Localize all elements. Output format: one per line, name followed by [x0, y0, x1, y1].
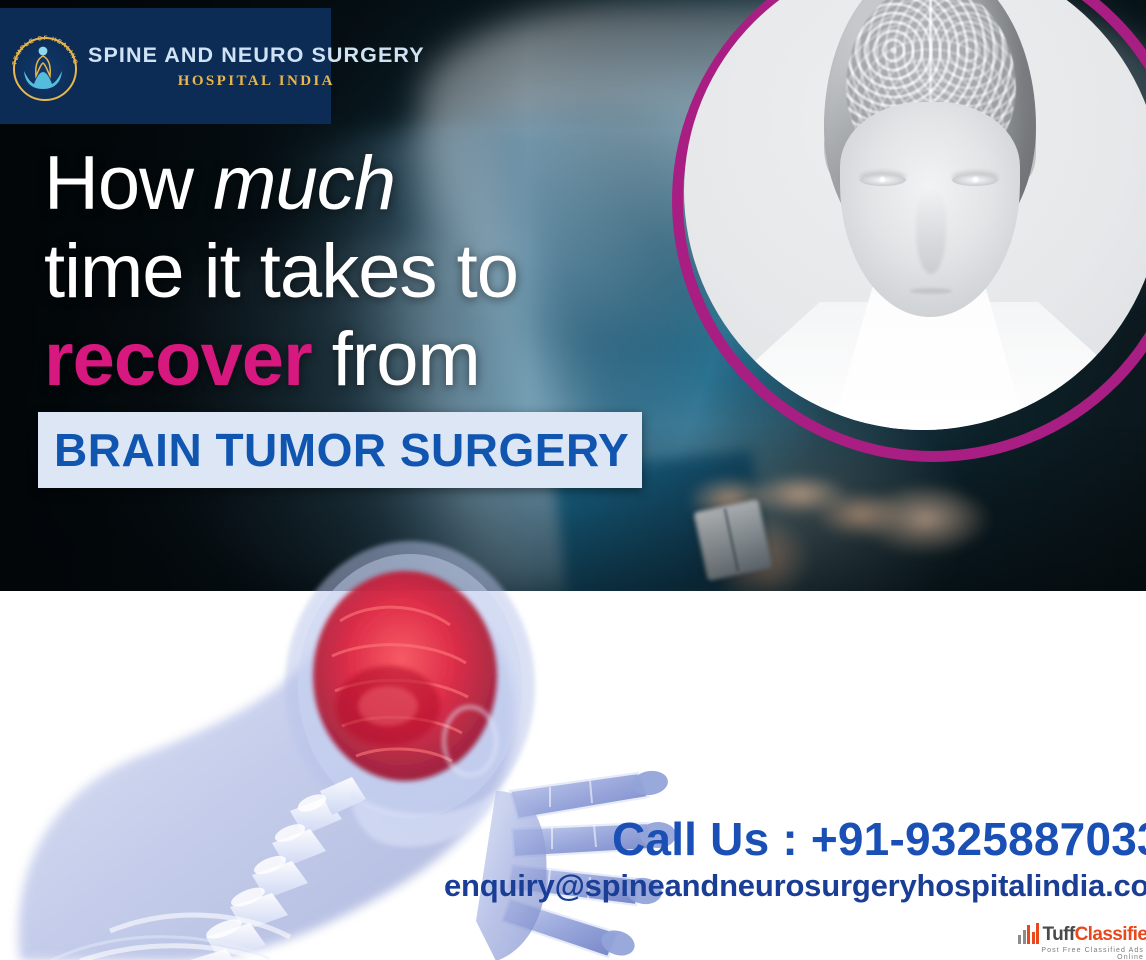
- email-contact[interactable]: enquiry@spineandneurosurgeryhospitalindi…: [444, 868, 1146, 904]
- watermark-name-part2: Classified: [1075, 924, 1146, 945]
- headline-line1-plain: How: [44, 141, 213, 226]
- phone-contact[interactable]: Call Us : +91-9325887033: [612, 812, 1146, 866]
- headline-line1-italic: much: [213, 141, 395, 226]
- logo-wordmark: SPINE AND NEURO SURGERY HOSPITAL INDIA: [88, 43, 425, 90]
- anatomical-head-illustration: [684, 0, 1146, 430]
- head-mouth: [910, 288, 952, 294]
- headline-line-3: recover from: [44, 316, 684, 404]
- head-pupil-right: [973, 177, 978, 182]
- logo-subtitle: HOSPITAL INDIA: [88, 73, 425, 90]
- bar-chart-icon: [1018, 923, 1041, 944]
- headline-line-1: How much: [44, 140, 684, 228]
- phone-number: +91-9325887033: [811, 813, 1146, 865]
- advertisement-poster: TEMPLE OF HEALING SPINE AND NEURO SURGER…: [0, 0, 1146, 960]
- healing-figure-icon: [33, 46, 53, 80]
- temple-of-healing-emblem-icon: TEMPLE OF HEALING: [8, 29, 82, 103]
- logo-title: SPINE AND NEURO SURGERY: [88, 43, 425, 68]
- headline: How much time it takes to recover from: [44, 140, 684, 404]
- tuffclassified-watermark[interactable]: TuffClassified Post Free Classified Ads …: [1018, 922, 1144, 958]
- watermark-name-part1: Tuff: [1043, 924, 1075, 945]
- head-pupil-left: [880, 177, 885, 182]
- hospital-logo: TEMPLE OF HEALING SPINE AND NEURO SURGER…: [0, 8, 331, 124]
- xray-red-brain: [313, 571, 497, 781]
- procedure-title: BRAIN TUMOR SURGERY: [54, 423, 629, 477]
- call-us-label: Call Us :: [612, 813, 811, 865]
- watermark-row: TuffClassified: [1018, 922, 1144, 944]
- headline-accent-word: recover: [44, 317, 312, 402]
- watermark-name: TuffClassified: [1043, 925, 1146, 944]
- head-nose: [916, 188, 946, 274]
- headline-line-2: time it takes to: [44, 228, 684, 316]
- headline-line3-plain: from: [312, 317, 480, 402]
- bottom-section: [0, 591, 1146, 960]
- watermark-tagline: Post Free Classified Ads Online: [1018, 947, 1144, 960]
- procedure-title-bar: BRAIN TUMOR SURGERY: [38, 412, 642, 488]
